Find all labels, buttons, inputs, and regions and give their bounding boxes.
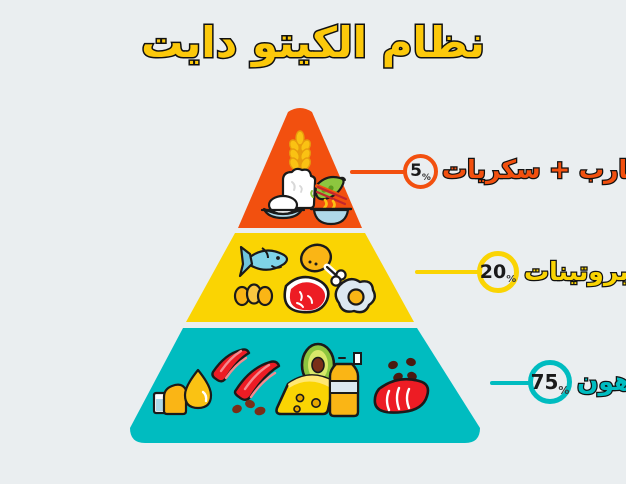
- tier-label-protein: بروتينات: [524, 259, 626, 284]
- connector-line-protein: [415, 270, 481, 274]
- tier-label-carbs: كارب + سكريات: [442, 157, 626, 182]
- percent-badge-protein[interactable]: 20%: [477, 251, 519, 293]
- percent-value-fat: 75: [531, 372, 559, 392]
- fried-egg-icon: [336, 279, 375, 312]
- percent-symbol-fat: %: [558, 385, 569, 399]
- percent-symbol-protein: %: [506, 275, 516, 288]
- pyramid-tier-protein[interactable]: [186, 233, 414, 322]
- pyramid-tier-carbs[interactable]: [238, 108, 362, 228]
- percent-symbol-carbs: %: [422, 174, 431, 185]
- percent-badge-fat[interactable]: 75%: [528, 360, 572, 404]
- eggs-icon: [235, 285, 272, 306]
- steak-icon: [285, 277, 329, 312]
- keto-food-pyramid: [0, 0, 626, 484]
- percent-badge-carbs[interactable]: 5%: [403, 154, 438, 189]
- connector-line-carbs: [350, 170, 406, 174]
- percent-value-protein: 20: [480, 263, 506, 282]
- pyramid-tier-fat[interactable]: [130, 328, 480, 443]
- infographic-canvas: نظام الكيتو دايت: [0, 0, 626, 484]
- percent-value-carbs: 5: [410, 163, 422, 180]
- tier-label-fat: دهون: [577, 369, 626, 394]
